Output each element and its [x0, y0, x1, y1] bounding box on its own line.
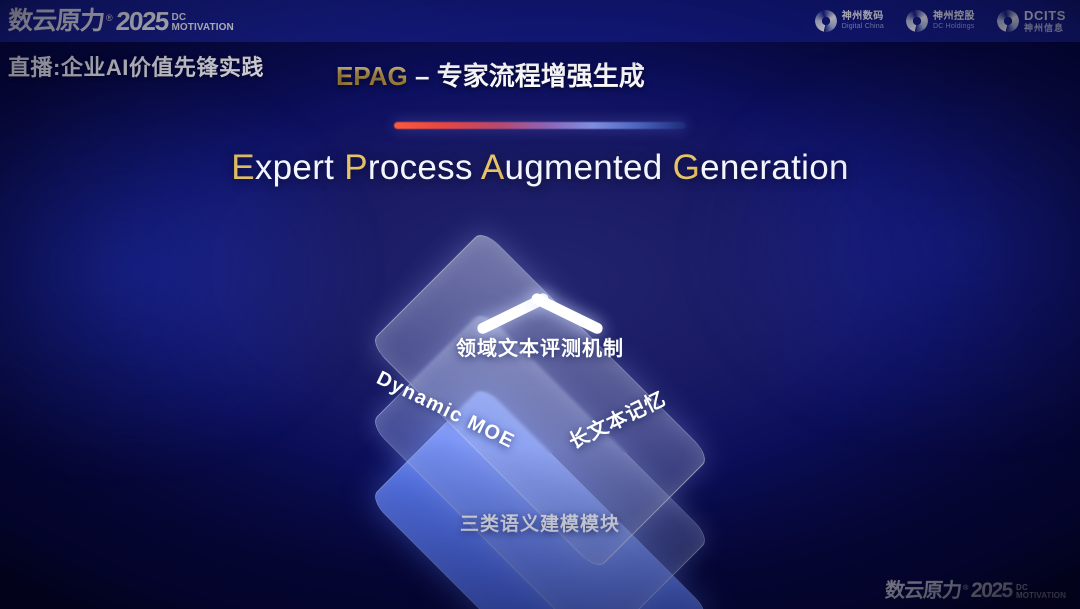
partner-name-cn: 神州数码 [842, 11, 884, 22]
partner-name-cn: 神州控股 [933, 11, 975, 22]
diagram-label-dynamic-moe: Dynamic MOE [373, 367, 519, 454]
swirl-icon [812, 7, 840, 35]
title-word-initial: P [344, 148, 368, 187]
partner-name-cn: DCITS [1024, 9, 1066, 24]
watermark-subtitle: DC MOTIVATION [1016, 584, 1066, 600]
headline-acronym: EPAG [336, 61, 408, 91]
watermark-logo: 数云原力 ® 2025 DC MOTIVATION [885, 580, 1066, 601]
diagram-label-top: 领域文本评测机制 [0, 332, 1080, 361]
title-word-rest: xpert [255, 148, 334, 187]
diagram-layer-bottom [369, 385, 711, 609]
page-title: Expert Process Augmented Generation [0, 148, 1080, 188]
diagram-label-bottom: 三类语义建模模块 [0, 509, 1080, 536]
live-stream-label: 直播:企业AI价值先锋实践 [8, 50, 264, 82]
chevron-up-icon [472, 275, 608, 321]
swirl-icon [994, 7, 1022, 35]
slide-headline: EPAG – 专家流程增强生成 [336, 56, 645, 93]
brand-subtitle-line2: MOTIVATION [172, 23, 234, 33]
swirl-icon [903, 7, 931, 35]
title-word-rest: rocess [368, 148, 473, 187]
partner-logo-dc-holdings: 神州控股 DC Holdings [906, 10, 975, 32]
background-glow-right [680, 30, 1080, 460]
partner-logo-dcits: DCITS 神州信息 [997, 9, 1066, 34]
partner-name-en: DC Holdings [933, 23, 975, 31]
title-word-initial: E [231, 148, 255, 187]
title-word-initial: A [481, 148, 505, 187]
partner-logo-digital-china: 神州数码 Digital China [815, 10, 884, 32]
partner-logo-group: 神州数码 Digital China 神州控股 DC Holdings DCIT… [815, 9, 1066, 34]
headline-separator: – [408, 61, 437, 91]
title-word-rest: ugmented [505, 148, 663, 187]
title-word-initial: G [673, 148, 701, 187]
background-glow-left [0, 60, 380, 480]
headline-subject: 专家流程增强生成 [437, 61, 645, 91]
accent-divider-bar [394, 122, 686, 129]
partner-name-en: Digital China [842, 23, 884, 31]
watermark-subtitle-line2: MOTIVATION [1016, 592, 1066, 600]
watermark-year: 2025 [971, 580, 1013, 601]
slide-canvas: 数云原力 ® 2025 DC MOTIVATION 神州数码 Digital C… [0, 0, 1080, 609]
brand-logo: 数云原力 ® 2025 DC MOTIVATION [8, 8, 234, 34]
title-word-rest: eneration [700, 148, 849, 187]
brand-year: 2025 [115, 8, 169, 34]
registered-mark: ® [106, 14, 113, 23]
watermark-name-cn: 数云原力 [884, 581, 961, 601]
brand-name-cn: 数云原力 [7, 9, 105, 34]
diagram-label-long-text-memory: 长文本记忆 [563, 382, 670, 454]
header-bar: 数云原力 ® 2025 DC MOTIVATION 神州数码 Digital C… [0, 0, 1080, 42]
registered-mark: ® [963, 585, 968, 592]
brand-subtitle: DC MOTIVATION [172, 13, 234, 33]
partner-name-en: 神州信息 [1024, 23, 1066, 33]
